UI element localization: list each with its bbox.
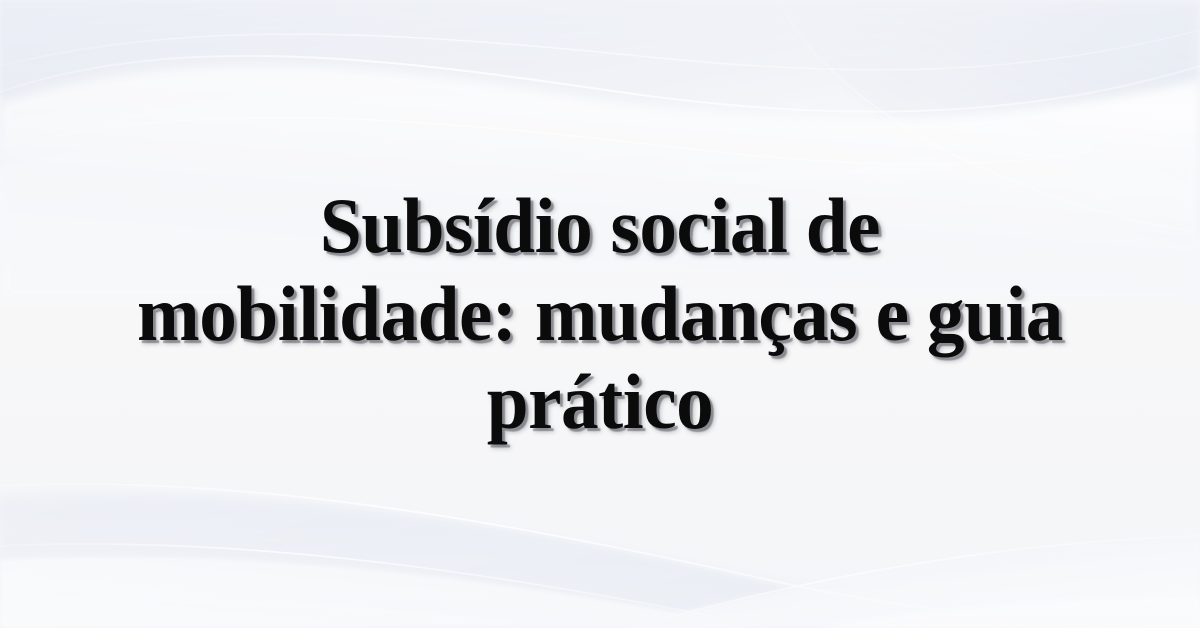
title-block: Subsídio social de mobilidade: mudanças … [0, 0, 1200, 628]
page-title: Subsídio social de mobilidade: mudanças … [137, 182, 1063, 446]
title-card: Subsídio social de mobilidade: mudanças … [0, 0, 1200, 628]
